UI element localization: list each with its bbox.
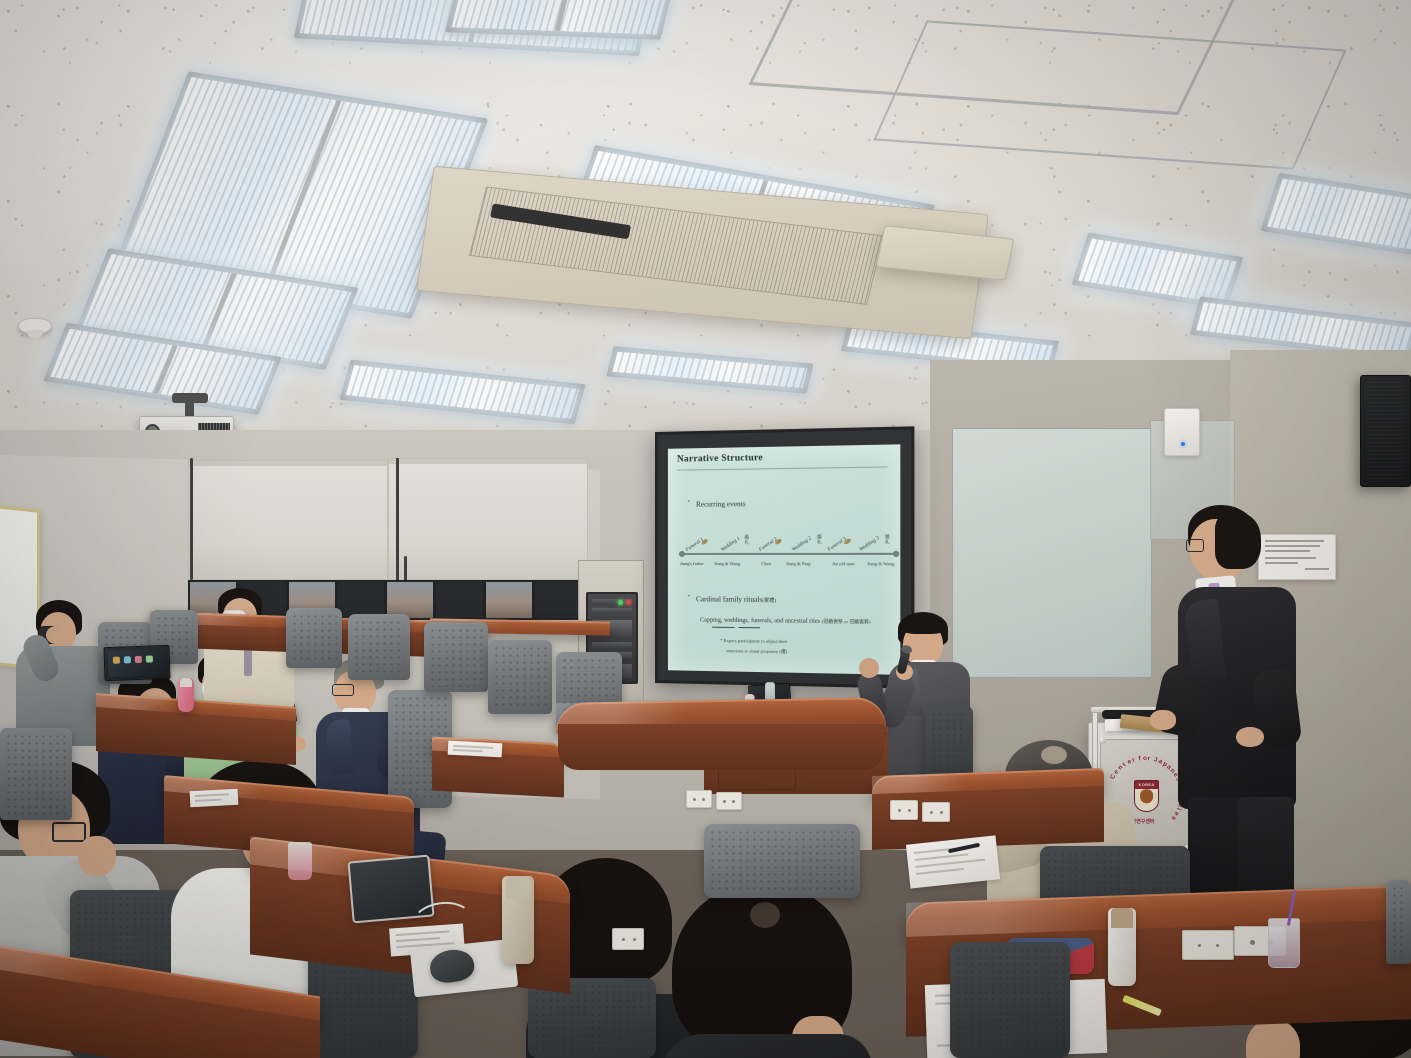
glasses bbox=[332, 684, 354, 696]
chair[interactable] bbox=[348, 614, 410, 680]
handout-papers[interactable] bbox=[906, 835, 1000, 888]
slide-bullet-cardinal-rituals: Cardinal family rituals(家禮) bbox=[696, 595, 776, 604]
chair[interactable] bbox=[1386, 880, 1411, 964]
timeline-person-label: Jiang's father bbox=[680, 561, 704, 566]
front-curved-desk-front bbox=[558, 724, 884, 770]
timeline-event-label: Wedding 1 bbox=[720, 536, 742, 553]
chair[interactable] bbox=[286, 608, 342, 668]
glasses bbox=[1186, 539, 1204, 552]
underline-weddings bbox=[712, 627, 734, 628]
slide-title: Narrative Structure bbox=[677, 453, 763, 465]
slide-title-rule bbox=[677, 466, 888, 470]
hair-fringe bbox=[900, 616, 947, 634]
desk-drawer[interactable] bbox=[718, 768, 796, 790]
blind-pull-cord[interactable] bbox=[190, 458, 193, 580]
hand bbox=[1150, 710, 1176, 730]
power-outlet[interactable] bbox=[716, 792, 742, 810]
hair-whorl bbox=[750, 902, 780, 928]
chair[interactable] bbox=[0, 728, 72, 820]
university-emblem: KOREA bbox=[1134, 780, 1159, 812]
timeline-event-label: Wedding 3 bbox=[858, 535, 881, 553]
chair[interactable] bbox=[424, 622, 488, 692]
hand bbox=[78, 836, 116, 876]
timeline-person-label: Jiang & Wang bbox=[714, 561, 740, 566]
projection-screen: Narrative Structure Recurring events Fun… bbox=[655, 426, 914, 688]
slide-note-line-2: emotions to ritual propriety (禮) bbox=[726, 648, 787, 655]
presentation-slide: Narrative Structure Recurring events Fun… bbox=[668, 444, 900, 675]
timeline-kanji-marker: 婚礼 bbox=[813, 535, 826, 545]
tumbler[interactable] bbox=[1108, 908, 1136, 986]
projector-mount bbox=[172, 393, 208, 403]
timeline-kanji-marker: 婚礼 bbox=[881, 535, 894, 545]
lecture-room-photo: Narrative Structure Recurring events Fun… bbox=[0, 0, 1411, 1058]
underline-funerals bbox=[739, 627, 761, 628]
timeline-person-label: Jiang & Wang bbox=[867, 561, 894, 566]
second-row-desk-front bbox=[432, 751, 564, 798]
bald-spot bbox=[1041, 746, 1067, 764]
smoke-detector bbox=[18, 318, 52, 334]
podium-screw bbox=[1099, 737, 1106, 744]
papers-on-desk[interactable] bbox=[448, 741, 503, 758]
hand-fist bbox=[859, 658, 879, 678]
chair[interactable] bbox=[704, 824, 860, 898]
glasses bbox=[52, 822, 86, 842]
rituals-list-hanja: (冠婚喪祭 or 冠婚喪葬) bbox=[822, 619, 871, 625]
emblem-label: KOREA bbox=[1136, 782, 1157, 789]
window-roller-blind[interactable] bbox=[188, 460, 388, 580]
chair[interactable] bbox=[488, 640, 552, 714]
glass-partition bbox=[952, 428, 1152, 678]
slide-subline-rituals: Capping, weddings, funerals, and ancestr… bbox=[700, 617, 871, 625]
timeline-event-label: Wedding 2 bbox=[791, 535, 813, 552]
slide-note-line-1: * Expect participants to adjust their bbox=[720, 638, 787, 644]
timeline-person-label: Jiang & Ping bbox=[786, 561, 811, 566]
hand bbox=[1236, 727, 1264, 747]
tumbler[interactable] bbox=[502, 876, 534, 964]
neck bbox=[1246, 1020, 1300, 1058]
timeline-person-label: Chen bbox=[761, 561, 771, 566]
cardinal-rituals-text: Cardinal family rituals bbox=[696, 595, 762, 604]
cardinal-rituals-hanja: (家禮) bbox=[762, 599, 776, 604]
iced-drink-cup[interactable] bbox=[288, 842, 312, 880]
timeline-kanji-marker: 婚礼 bbox=[741, 536, 753, 545]
slide-bullet-recurring-events: Recurring events bbox=[696, 500, 746, 509]
timeline-person-label: An old man bbox=[832, 561, 855, 566]
power-outlet[interactable] bbox=[1182, 930, 1234, 960]
wall-mounted-sensor bbox=[1164, 408, 1200, 456]
lion-icon bbox=[1140, 789, 1154, 803]
slide-timeline-axis bbox=[682, 553, 896, 555]
blind-pull-cord[interactable] bbox=[396, 458, 399, 588]
laptop[interactable] bbox=[103, 645, 170, 681]
wall-notice bbox=[1258, 534, 1336, 580]
power-outlet[interactable] bbox=[890, 800, 918, 820]
power-outlet[interactable] bbox=[612, 928, 644, 950]
shirt bbox=[662, 1034, 872, 1058]
iced-drink-cup[interactable] bbox=[1268, 918, 1300, 968]
tumbler-pink[interactable] bbox=[178, 678, 194, 712]
wall-speaker bbox=[1360, 375, 1411, 487]
hand bbox=[46, 626, 66, 644]
chair[interactable] bbox=[950, 942, 1070, 1058]
power-outlet[interactable] bbox=[686, 790, 712, 808]
hair-back bbox=[1215, 513, 1261, 569]
rituals-list-text: Capping, weddings, funerals, and ancestr… bbox=[700, 617, 820, 624]
papers-on-desk[interactable] bbox=[190, 789, 239, 807]
power-outlet[interactable] bbox=[922, 802, 950, 822]
window-roller-blind[interactable] bbox=[388, 458, 588, 580]
